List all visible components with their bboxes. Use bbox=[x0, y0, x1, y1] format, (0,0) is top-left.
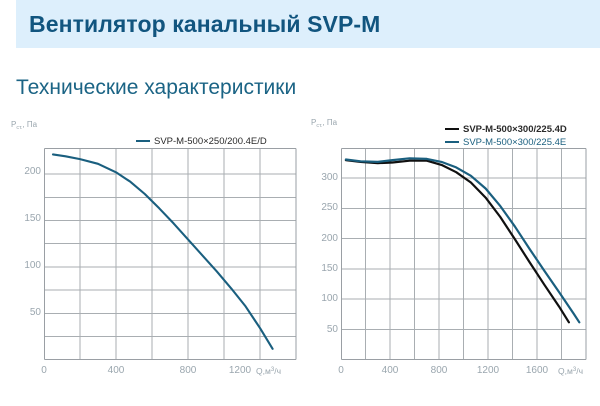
chart-right-xtick: 800 bbox=[426, 365, 452, 376]
chart-right-ytick: 150 bbox=[305, 263, 338, 274]
chart-right-series-line-e bbox=[346, 158, 579, 322]
x-axis-symbol: Q, bbox=[256, 366, 265, 376]
chart-left-ytick: 200 bbox=[8, 166, 41, 177]
chart-right-ytick: 50 bbox=[305, 324, 338, 335]
page-title: Вентилятор канальный SVP-M bbox=[29, 8, 589, 40]
chart-left-x-axis-label: Q,м3/ч bbox=[256, 366, 281, 376]
y-axis-unit: Па bbox=[327, 118, 337, 127]
legend-label: SVP-M-500×250/200.4E/D bbox=[154, 136, 267, 147]
chart-right-y-axis-label: Pст., Па bbox=[311, 118, 337, 127]
chart-left-xtick: 800 bbox=[175, 365, 201, 376]
chart-left-y-axis-label: Pст., Па bbox=[11, 120, 37, 129]
x-axis-unit-exponent: 3 bbox=[573, 366, 576, 373]
chart-right-xtick: 0 bbox=[328, 365, 354, 376]
legend-label: SVP-M-500×300/225.4E bbox=[463, 137, 566, 148]
chart-left-legend: SVP-M-500×250/200.4E/D bbox=[136, 135, 267, 147]
x-axis-unit-base: м bbox=[567, 366, 573, 376]
chart-right-plot-area bbox=[341, 148, 587, 361]
chart-right-xtick: 1600 bbox=[524, 365, 550, 376]
chart-right-ytick: 200 bbox=[305, 233, 338, 244]
section-subtitle: Технические характеристики bbox=[16, 76, 296, 100]
chart-left-series-line bbox=[53, 154, 273, 348]
chart-right-ytick: 250 bbox=[305, 202, 338, 213]
legend-item: SVP-M-500×300/225.4E bbox=[445, 136, 567, 148]
chart-right-series-line-d bbox=[346, 160, 569, 322]
legend-line-swatch bbox=[136, 140, 150, 142]
x-axis-unit-base: м bbox=[265, 366, 271, 376]
chart-left: Pст., Па SVP-M-500×250/200.4E/D 200 150 … bbox=[0, 115, 300, 395]
chart-left-xtick: 400 bbox=[103, 365, 129, 376]
y-axis-subscript: ст. bbox=[16, 125, 22, 131]
chart-left-ytick: 150 bbox=[8, 213, 41, 224]
chart-left-ytick: 100 bbox=[8, 260, 41, 271]
legend-item: SVP-M-500×250/200.4E/D bbox=[136, 135, 267, 147]
chart-right-xtick: 1200 bbox=[475, 365, 501, 376]
y-axis-unit: Па bbox=[27, 120, 37, 129]
x-axis-unit-exponent: 3 bbox=[271, 366, 274, 373]
chart-right-ytick: 300 bbox=[305, 172, 338, 183]
chart-left-ytick: 50 bbox=[8, 307, 41, 318]
x-axis-unit-tail: /ч bbox=[576, 366, 583, 376]
chart-right-xtick: 400 bbox=[377, 365, 403, 376]
y-axis-subscript: ст. bbox=[316, 123, 322, 129]
legend-line-swatch bbox=[445, 128, 459, 130]
chart-left-xtick: 0 bbox=[31, 365, 57, 376]
chart-left-xtick: 1200 bbox=[227, 365, 253, 376]
chart-right: Pст., Па SVP-M-500×300/225.4D SVP-M-500×… bbox=[300, 115, 600, 395]
x-axis-symbol: Q, bbox=[558, 366, 567, 376]
x-axis-unit-tail: /ч bbox=[274, 366, 281, 376]
legend-line-swatch bbox=[445, 141, 459, 143]
chart-right-legend: SVP-M-500×300/225.4D SVP-M-500×300/225.4… bbox=[445, 123, 567, 148]
legend-item: SVP-M-500×300/225.4D bbox=[445, 123, 567, 135]
chart-right-ytick: 100 bbox=[305, 293, 338, 304]
legend-label: SVP-M-500×300/225.4D bbox=[463, 124, 567, 135]
chart-left-plot-area bbox=[44, 148, 297, 361]
chart-right-x-axis-label: Q,м3/ч bbox=[558, 366, 583, 376]
